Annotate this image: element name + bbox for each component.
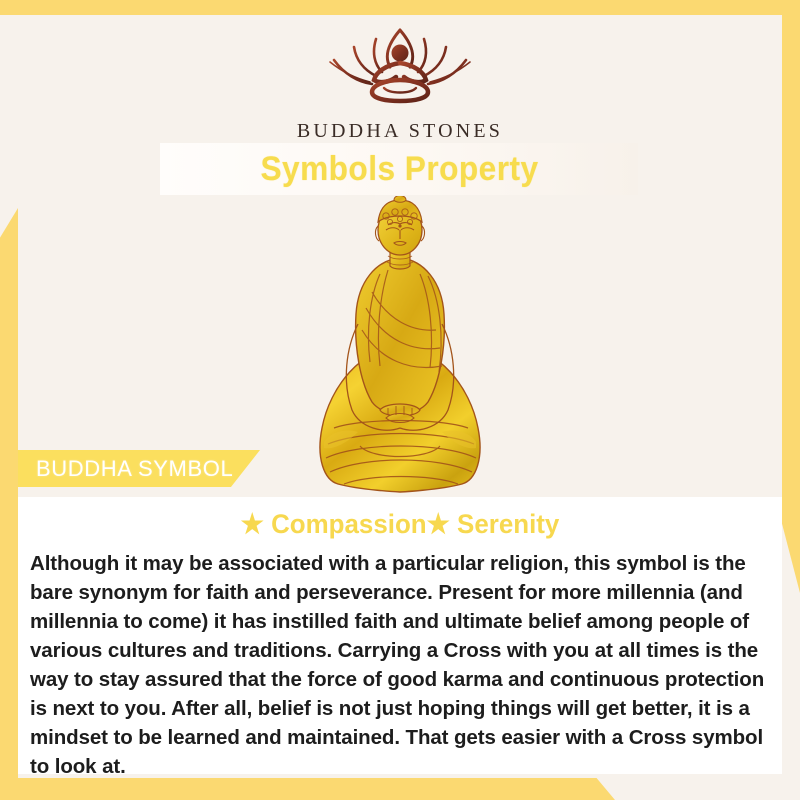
description-card: ★ Compassion★ Serenity Although it may b… [18,497,782,774]
brand-name: BUDDHA STONES [297,120,503,143]
ribbon-label: BUDDHA SYMBOL [18,456,233,482]
lotus-meditation-icon [310,22,490,117]
buddha-symbol-ribbon: BUDDHA SYMBOL [18,450,260,487]
page-title: Symbols Property [260,150,538,189]
title-banner: Symbols Property [160,143,638,195]
bottom-accent-band [0,778,615,800]
brand-header: BUDDHA STONES [0,22,800,143]
top-accent-band [0,0,800,15]
poster-canvas: BUDDHA STONES Symbols Property [0,0,800,800]
description-paragraph: Although it may be associated with a par… [18,540,782,781]
attributes-subtitle: ★ Compassion★ Serenity [33,497,766,540]
